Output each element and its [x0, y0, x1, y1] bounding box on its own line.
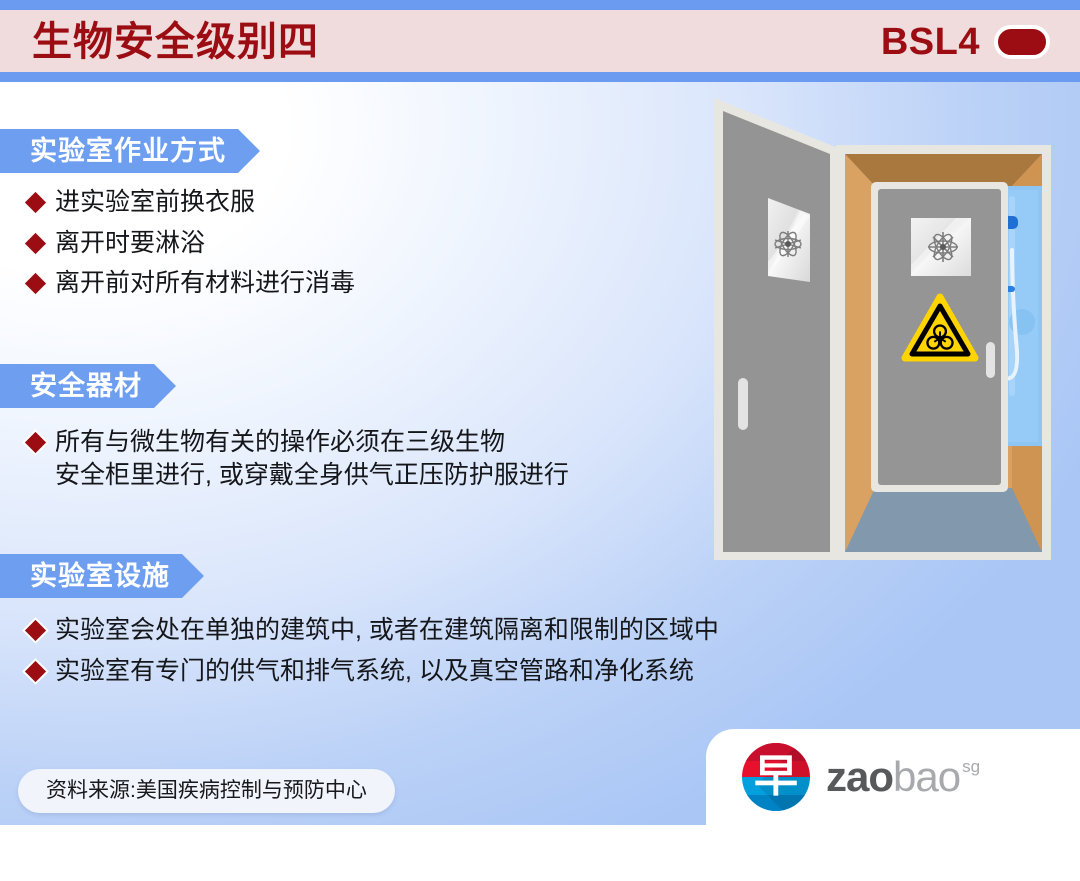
diamond-bullet-icon — [25, 273, 46, 294]
inner-door-window — [911, 218, 971, 276]
brand-logo-panel: 早 zao bao sg — [706, 729, 1080, 825]
wordmark-bao: bao — [893, 756, 960, 798]
list-item-text: 所有与微生物有关的操作必须在三级生物 安全柜里进行, 或穿戴全身供气正压防护服进… — [55, 426, 569, 491]
section-heading-lab-practices: 实验室作业方式 — [0, 129, 260, 173]
top-accent-strip — [0, 0, 1080, 10]
level-pill-icon — [994, 25, 1050, 59]
list-item: 离开时要淋浴 — [28, 227, 355, 260]
source-attribution: 资料来源:美国疾病控制与预防中心 — [18, 769, 395, 813]
zaobao-mark-icon: 早 — [742, 743, 810, 811]
page-title: 生物安全级别四 — [32, 22, 319, 62]
list-item: 所有与微生物有关的操作必须在三级生物 安全柜里进行, 或穿戴全身供气正压防护服进… — [28, 426, 569, 491]
list-item-text: 离开前对所有材料进行消毒 — [55, 267, 355, 300]
bsl4-lab-entrance-illustration — [706, 90, 1066, 600]
floor — [845, 488, 1042, 552]
section-safety-equipment-header: 安全器材 — [0, 364, 176, 408]
zaobao-mark-character: 早 — [742, 743, 810, 811]
section-lab-practices-bullets: 进实验室前换衣服 离开时要淋浴 离开前对所有材料进行消毒 — [28, 186, 355, 308]
section-lab-facilities-header: 实验室设施 — [0, 554, 204, 598]
wordmark-zao: zao — [826, 756, 893, 798]
list-item: 实验室有专门的供气和排气系统, 以及真空管路和净化系统 — [28, 655, 719, 688]
diamond-bullet-icon — [25, 192, 46, 213]
brand-wordmark: zao bao sg — [826, 756, 980, 798]
list-item: 实验室会处在单独的建筑中, 或者在建筑隔离和限制的区域中 — [28, 614, 719, 647]
diamond-bullet-icon — [25, 620, 46, 641]
bsl-level-label: BSL4 — [881, 23, 980, 61]
outer-door — [714, 98, 838, 560]
list-item-text: 离开时要淋浴 — [55, 227, 205, 260]
section-heading-safety-equipment: 安全器材 — [0, 364, 176, 408]
header-band: 生物安全级别四 BSL4 — [0, 10, 1080, 72]
list-item: 离开前对所有材料进行消毒 — [28, 267, 355, 300]
list-item: 进实验室前换衣服 — [28, 186, 355, 219]
section-safety-equipment-bullets: 所有与微生物有关的操作必须在三级生物 安全柜里进行, 或穿戴全身供气正压防护服进… — [28, 426, 569, 499]
section-heading-lab-facilities: 实验室设施 — [0, 554, 204, 598]
wordmark-sg-superscript: sg — [962, 758, 980, 775]
brand-logo: 早 zao bao sg — [742, 743, 980, 811]
diamond-bullet-icon — [25, 432, 46, 453]
infographic-poster: 生物安全级别四 BSL4 — [0, 0, 1080, 881]
header-level-group: BSL4 — [881, 23, 1050, 61]
diamond-bullet-icon — [25, 232, 46, 253]
header-underline-strip — [0, 72, 1080, 82]
diamond-bullet-icon — [25, 660, 46, 681]
list-item-text: 实验室有专门的供气和排气系统, 以及真空管路和净化系统 — [55, 655, 694, 688]
section-lab-facilities-bullets: 实验室会处在单独的建筑中, 或者在建筑隔离和限制的区域中 实验室有专门的供气和排… — [28, 614, 719, 695]
section-lab-practices-header: 实验室作业方式 — [0, 129, 260, 173]
content-area: 实验室作业方式 进实验室前换衣服 离开时要淋浴 离开前对所有材料进行消毒 安全器… — [0, 82, 1080, 825]
list-item-text: 进实验室前换衣服 — [55, 186, 255, 219]
list-item-text: 实验室会处在单独的建筑中, 或者在建筑隔离和限制的区域中 — [55, 614, 719, 647]
